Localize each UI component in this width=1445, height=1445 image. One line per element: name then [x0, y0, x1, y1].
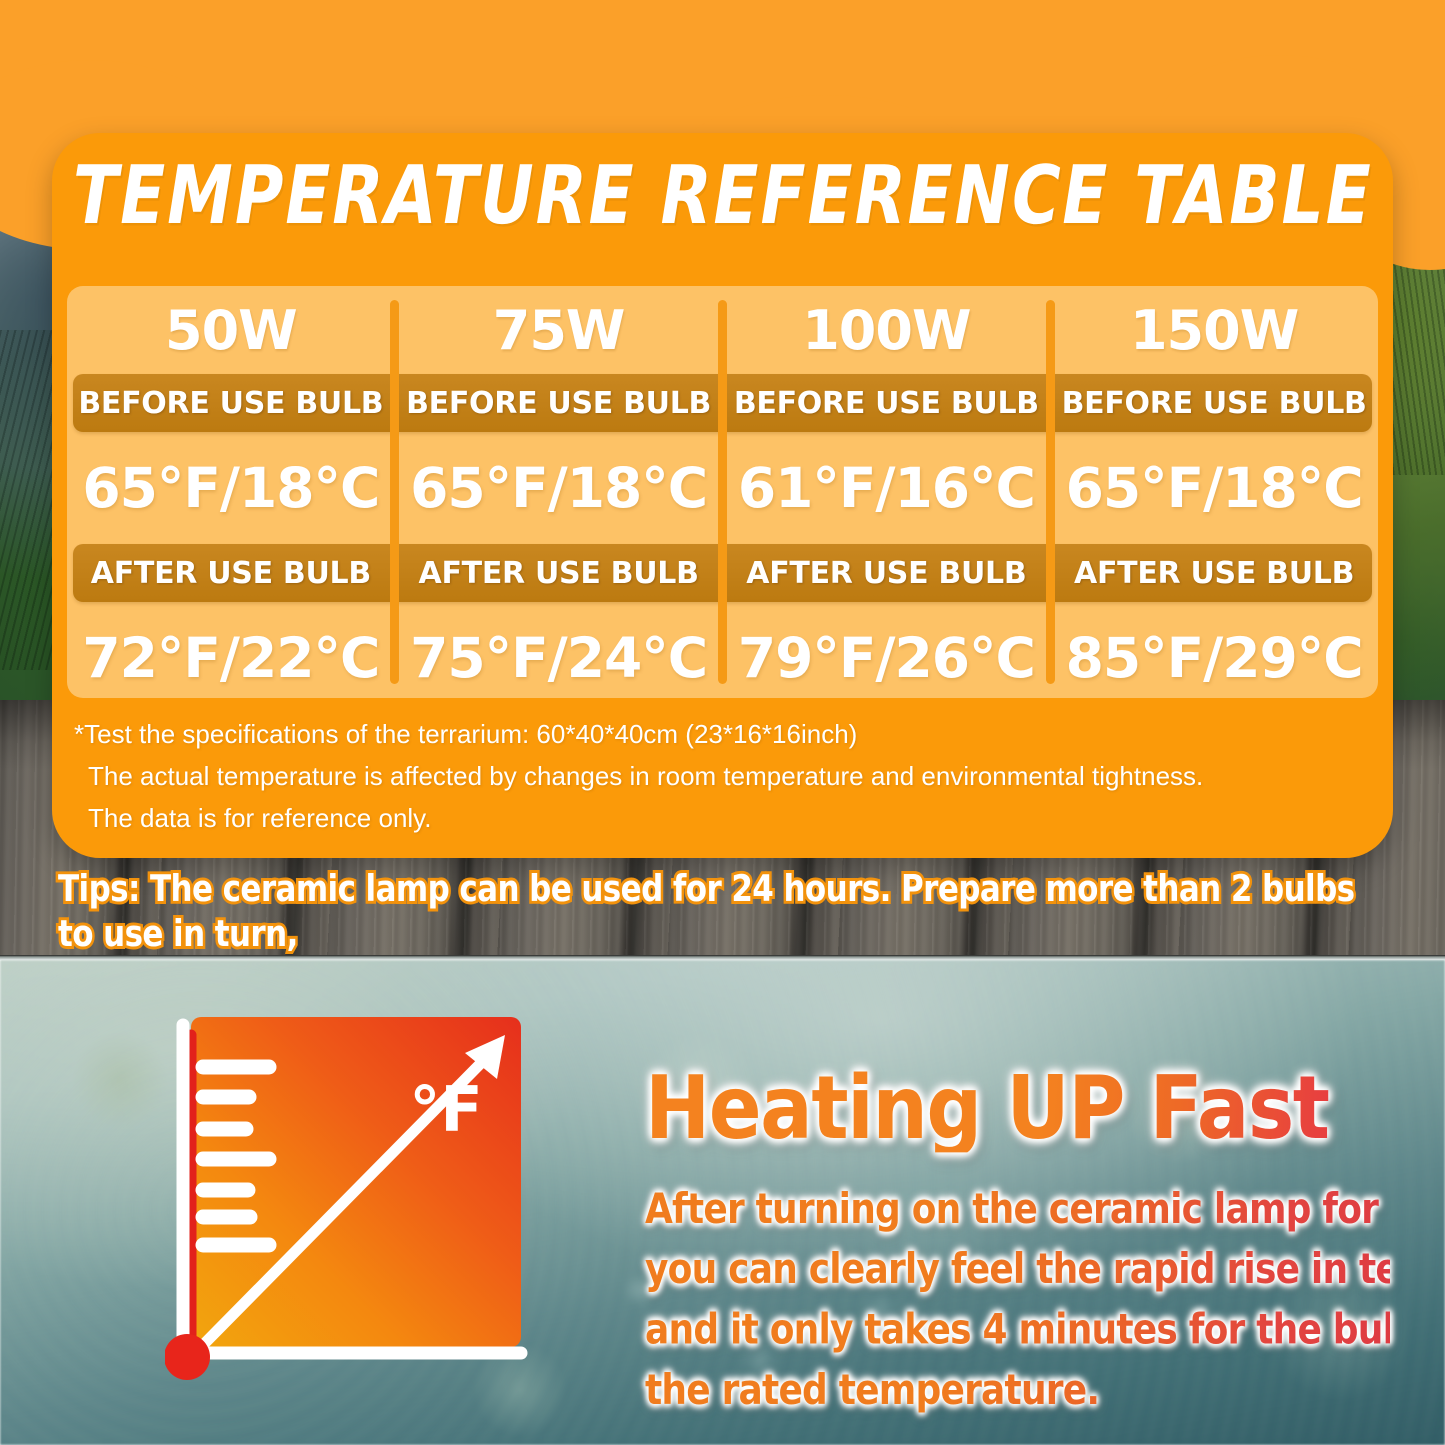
page-title: TEMPERATURE REFERENCE TABLE [46, 156, 1400, 237]
before-use-label: BEFORE USE BULB [1050, 374, 1378, 432]
before-use-label: BEFORE USE BULB [395, 374, 723, 432]
before-use-value: 65°F/18°C [67, 432, 395, 544]
after-use-value: 79°F/26°C [723, 602, 1051, 698]
body-line-3: and it only takes 4 minutes for the bulb… [645, 1301, 1390, 1361]
tips-block: Tips: The ceramic lamp can be used for 2… [58, 867, 1398, 957]
wattage-header: 75W [395, 286, 723, 374]
after-use-label: AFTER USE BULB [1050, 544, 1378, 602]
thermometer-chart-icon: °F [165, 1005, 550, 1390]
thermometer-bulb [165, 1334, 210, 1380]
table-column-50w: 50W BEFORE USE BULB 65°F/18°C AFTER USE … [67, 286, 395, 698]
product-infographic: TEMPERATURE REFERENCE TABLE 50W BEFORE U… [0, 0, 1445, 1445]
heating-up-fast-section: °F Heating UP Fast After turning on the … [0, 960, 1445, 1445]
body-line-4: the rated temperature. [645, 1361, 1390, 1421]
after-use-value: 85°F/29°C [1050, 602, 1378, 698]
before-use-value: 61°F/16°C [723, 432, 1051, 544]
after-use-value: 75°F/24°C [395, 602, 723, 698]
after-use-label: AFTER USE BULB [67, 544, 395, 602]
temperature-table-section: TEMPERATURE REFERENCE TABLE 50W BEFORE U… [0, 0, 1445, 957]
wattage-header: 150W [1050, 286, 1378, 374]
body-line-1: After turning on the ceramic lamp for 10… [645, 1180, 1390, 1240]
unit-label: °F [409, 1073, 482, 1146]
footnote-block: *Test the specifications of the terrariu… [74, 713, 1374, 839]
before-use-label: BEFORE USE BULB [67, 374, 395, 432]
wattage-header: 50W [67, 286, 395, 374]
column-divider [390, 300, 399, 684]
before-use-value: 65°F/18°C [1050, 432, 1378, 544]
wattage-header: 100W [723, 286, 1051, 374]
before-use-label: BEFORE USE BULB [723, 374, 1051, 432]
after-use-value: 72°F/22°C [67, 602, 395, 698]
footnote-line-2: The actual temperature is affected by ch… [74, 755, 1374, 797]
after-use-label: AFTER USE BULB [723, 544, 1051, 602]
table-column-100w: 100W BEFORE USE BULB 61°F/16°C AFTER USE… [723, 286, 1051, 698]
footnote-line-1: *Test the specifications of the terrariu… [74, 713, 1374, 755]
temperature-table: 50W BEFORE USE BULB 65°F/18°C AFTER USE … [67, 286, 1378, 698]
temperature-reference-card: TEMPERATURE REFERENCE TABLE 50W BEFORE U… [52, 133, 1393, 858]
section-heading: Heating UP Fast [645, 1065, 1405, 1152]
section-divider [0, 955, 1445, 960]
column-divider [718, 300, 727, 684]
temperature-rise-chart-graphic: °F [165, 1005, 550, 1390]
before-use-value: 65°F/18°C [395, 432, 723, 544]
column-divider [1046, 300, 1055, 684]
section-body-text: After turning on the ceramic lamp for 10… [645, 1180, 1390, 1421]
footnote-line-3: The data is for reference only. [74, 797, 1374, 839]
table-column-150w: 150W BEFORE USE BULB 65°F/18°C AFTER USE… [1050, 286, 1378, 698]
tips-line-1: Tips: The ceramic lamp can be used for 2… [58, 867, 1398, 957]
table-column-75w: 75W BEFORE USE BULB 65°F/18°C AFTER USE … [395, 286, 723, 698]
after-use-label: AFTER USE BULB [395, 544, 723, 602]
body-line-2: you can clearly feel the rapid rise in t… [645, 1240, 1390, 1300]
